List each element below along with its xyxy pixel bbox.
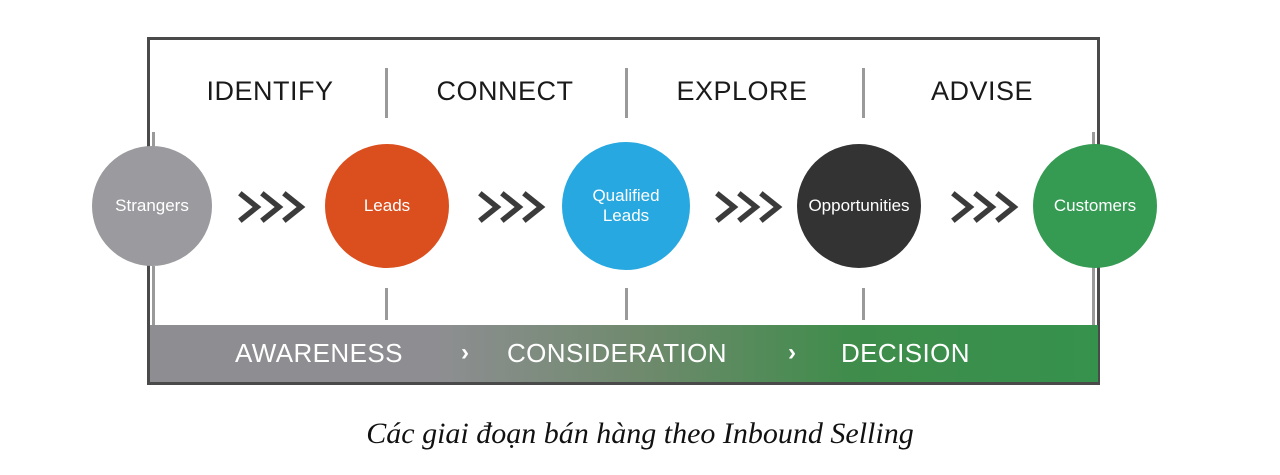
arrow-leads-to-qualified-leads-icon <box>476 186 548 228</box>
arrow-strangers-to-leads-icon <box>236 186 308 228</box>
node-qualified-leads-label: Qualified Leads <box>588 186 663 226</box>
node-qualified-leads-label-line1: Qualified <box>592 186 659 205</box>
connector-tick-bottom-customers <box>1092 266 1095 325</box>
node-leads-label: Leads <box>360 196 414 216</box>
journey-item-awareness[interactable]: AWARENESS <box>235 325 403 382</box>
node-opportunities[interactable]: Opportunities <box>797 144 921 268</box>
connector-tick-bottom-qualified-leads <box>625 288 628 320</box>
node-strangers-label: Strangers <box>111 196 193 216</box>
connector-tick-bottom-leads <box>385 288 388 320</box>
journey-separator-1: › <box>461 325 469 382</box>
journey-separator-2: › <box>788 325 796 382</box>
journey-item-consideration[interactable]: CONSIDERATION <box>507 325 727 382</box>
diagram-caption: Các giai đoạn bán hàng theo Inbound Sell… <box>0 417 1280 451</box>
stage-label-advise: ADVISE <box>892 76 1072 107</box>
node-opportunities-label: Opportunities <box>804 196 913 216</box>
journey-bar: AWARENESS › CONSIDERATION › DECISION <box>150 325 1098 382</box>
connector-tick-bottom-opportunities <box>862 288 865 320</box>
stage-label-identify: IDENTIFY <box>180 76 360 107</box>
stage-label-explore: EXPLORE <box>652 76 832 107</box>
stage-label-connect: CONNECT <box>415 76 595 107</box>
connector-tick-bottom-strangers <box>152 266 155 325</box>
node-qualified-leads[interactable]: Qualified Leads <box>562 142 690 270</box>
arrow-qualified-leads-to-opportunities-icon <box>713 186 785 228</box>
stage-divider-1 <box>385 68 388 118</box>
node-customers[interactable]: Customers <box>1033 144 1157 268</box>
node-customers-label: Customers <box>1050 196 1140 216</box>
stage-divider-3 <box>862 68 865 118</box>
node-leads[interactable]: Leads <box>325 144 449 268</box>
stage-divider-2 <box>625 68 628 118</box>
node-strangers[interactable]: Strangers <box>92 146 212 266</box>
journey-item-decision[interactable]: DECISION <box>841 325 970 382</box>
node-qualified-leads-label-line2: Leads <box>603 206 649 225</box>
arrow-opportunities-to-customers-icon <box>949 186 1021 228</box>
